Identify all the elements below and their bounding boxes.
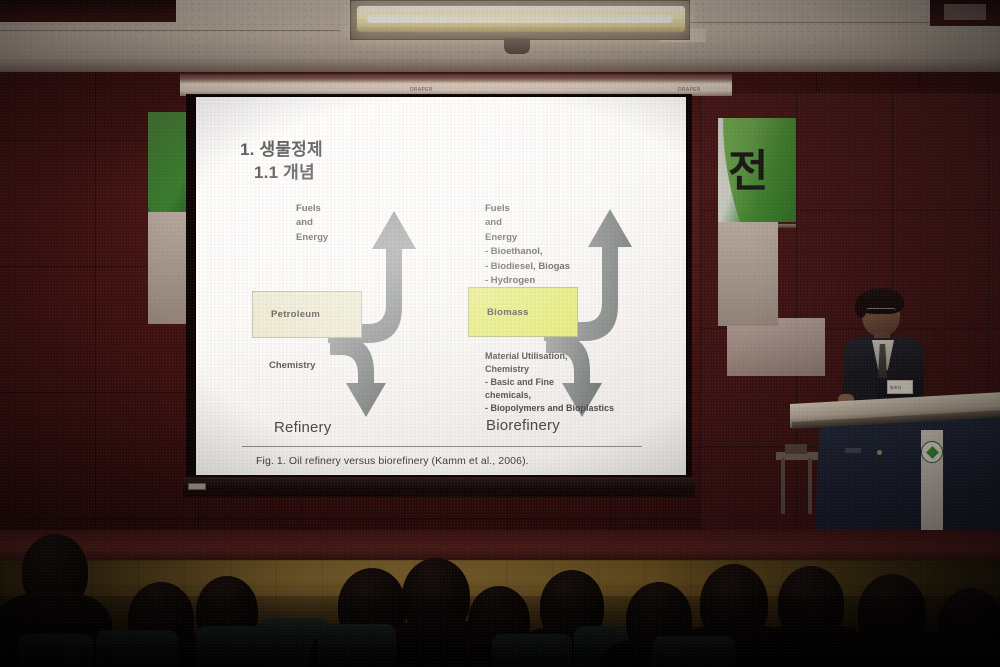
lecture-hall-photo: DRAPER DRAPER 전 1. 생물정제 1.1 개념 Fuels [0,0,1000,667]
biomass-label: Biomass [469,307,529,318]
screen-bottom-bar [183,477,695,497]
ceiling-vent [944,4,986,20]
speaker-glasses-icon [866,308,896,316]
screen-pull-tab [188,483,206,490]
ceiling-light-knob [504,38,530,54]
right-item-2: - Hydrogen [485,275,535,286]
right-lower-item-1: chemicals, [485,390,531,400]
ceiling-shadow-left [0,0,176,22]
podium-logo-icon [921,441,943,463]
podium-hinge [845,448,861,453]
housing-brand-right: DRAPER [678,87,701,93]
fluorescent-light-fixture [350,0,690,40]
biomass-box: Biomass [468,287,578,337]
projector-screen-housing: DRAPER DRAPER [180,72,732,96]
projection-screen: 1. 생물정제 1.1 개념 FuelsandEnergy [196,97,686,475]
slide-content: 1. 생물정제 1.1 개념 FuelsandEnergy [196,97,686,475]
light-tube-icon [357,6,685,32]
left-lower-label: Chemistry [269,360,315,371]
table-object [785,444,807,454]
section-label-refinery: Refinery [274,419,331,436]
housing-brand-left: DRAPER [410,87,433,93]
slide-title: 1. 생물정제 1.1 개념 [240,138,323,185]
speaker: 발표자 [838,288,930,414]
wall-banner-right: 전 [718,118,796,330]
right-lower-item-2: - Biopolymers and Bioplastics [485,403,614,413]
side-table-leg [808,458,812,514]
petroleum-label: Petroleum [253,309,320,320]
slide-title-line1: 1. 생물정제 [240,140,323,159]
side-table-leg [781,458,785,514]
audience-shadow [0,596,1000,667]
petroleum-box: Petroleum [252,291,362,338]
podium-knob [877,450,882,455]
banner-korean-char: 전 [728,150,768,194]
speaker-hair-side [855,296,867,318]
speaker-name-badge: 발표자 [887,380,913,394]
figure-caption: Fig. 1. Oil refinery versus biorefinery … [256,455,529,467]
right-lower-item-0: - Basic and Fine [485,377,554,387]
right-item-0: - Bioethanol, [485,246,543,257]
right-lower-label: Material Utilisation,Chemistry - Basic a… [485,350,614,415]
slide-title-line2: 1.1 개념 [254,161,323,184]
speaker-badge-text: 발표자 [890,385,901,391]
section-label-biorefinery: Biorefinery [486,417,560,434]
left-output-label: FuelsandEnergy [296,202,328,245]
slide-divider [242,446,642,447]
